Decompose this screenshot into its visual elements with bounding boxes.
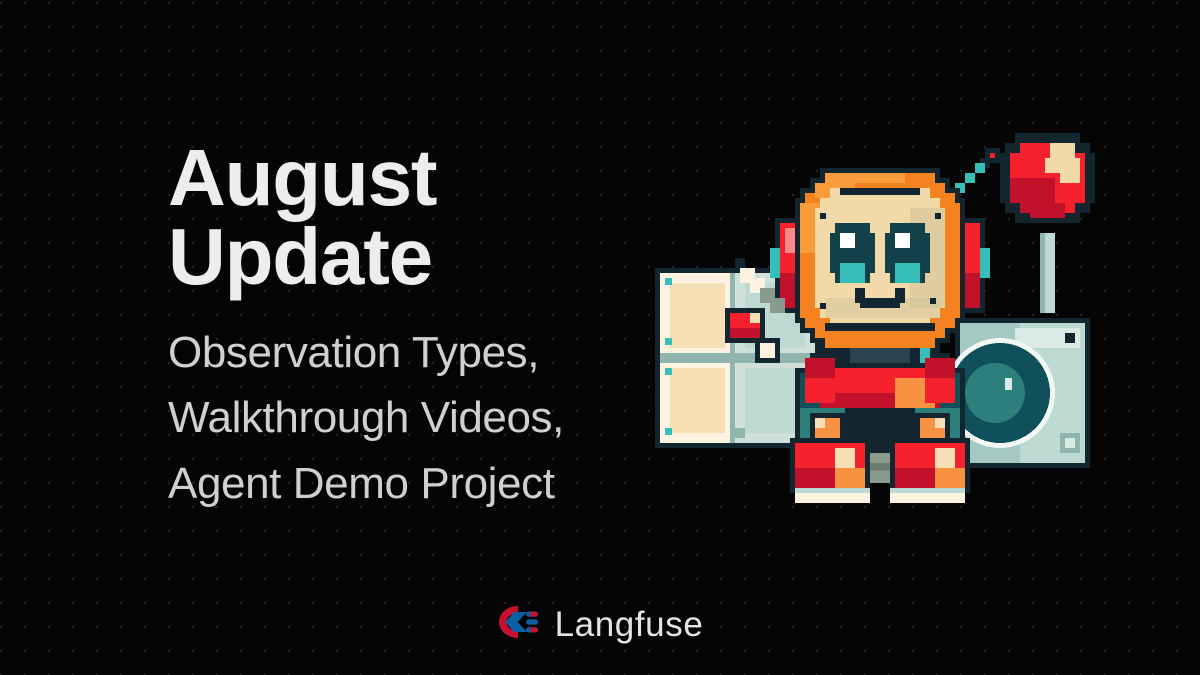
helmet-part	[795, 168, 965, 353]
mascot-illustration	[645, 118, 1145, 518]
text-block: August Update Observation Types, Walkthr…	[168, 138, 638, 516]
langfuse-wordmark: Langfuse	[555, 607, 704, 642]
logo-lockup: Langfuse	[0, 604, 1200, 645]
langfuse-logo-icon	[497, 604, 541, 645]
page-subtitle: Observation Types, Walkthrough Videos, A…	[168, 296, 638, 515]
poster-canvas: August Update Observation Types, Walkthr…	[0, 0, 1200, 675]
balloon-part	[1000, 133, 1095, 313]
page-title: August Update	[168, 138, 638, 296]
